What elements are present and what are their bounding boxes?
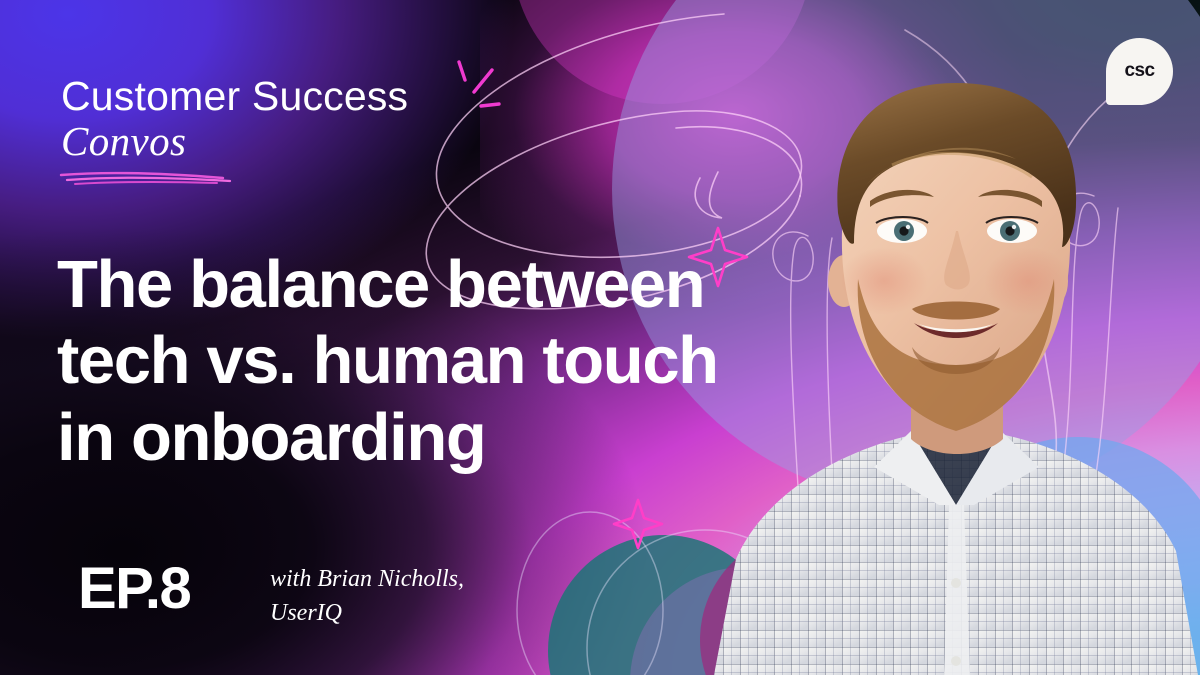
- episode-title-line2: tech vs. human touch: [57, 323, 787, 399]
- episode-title: The balance between tech vs. human touch…: [57, 247, 787, 476]
- csc-logo[interactable]: csc: [1106, 38, 1173, 105]
- episode-cover-card: Customer Success Convos The balance betw…: [0, 0, 1200, 675]
- show-title: Customer Success Convos: [61, 76, 408, 162]
- show-title-underline: [57, 166, 237, 188]
- episode-title-line3: in onboarding: [57, 400, 787, 476]
- guest-name: with Brian Nicholls,: [270, 562, 464, 596]
- episode-title-line1: The balance between: [57, 247, 787, 323]
- show-title-line1: Customer Success: [61, 76, 408, 117]
- csc-logo-text: csc: [1106, 38, 1173, 105]
- guest-credit: with Brian Nicholls, UserIQ: [270, 562, 464, 630]
- episode-number: EP.8: [78, 560, 190, 618]
- guest-company: UserIQ: [270, 596, 464, 630]
- show-title-line2: Convos: [61, 121, 408, 162]
